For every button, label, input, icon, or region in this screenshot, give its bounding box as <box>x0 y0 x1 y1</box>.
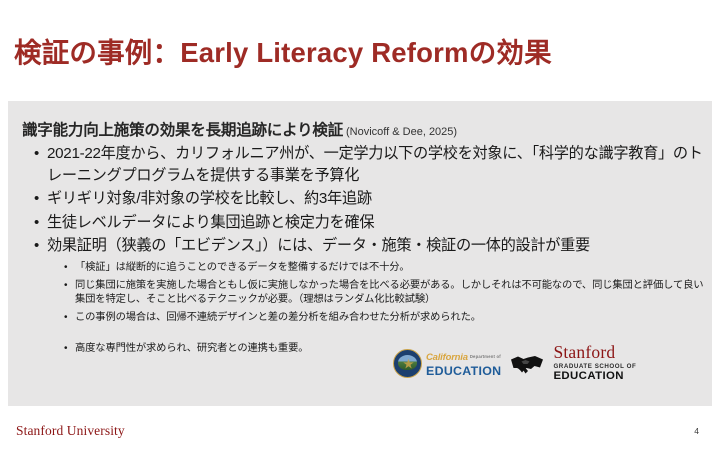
footer-brand: Stanford University <box>16 423 125 439</box>
cde-education-text: EDUCATION <box>426 365 501 377</box>
content-heading-main: 識字能力向上施策の効果を長期追跡により検証 <box>22 122 343 139</box>
bullet-glyph: • <box>34 212 47 234</box>
california-department-of-education-logo: CaliforniaDepartment of EDUCATION <box>393 348 501 377</box>
content-panel: 識字能力向上施策の効果を長期追跡により検証(Novicoff & Dee, 20… <box>8 101 712 406</box>
logo-row: CaliforniaDepartment of EDUCATION Stanfo… <box>393 342 636 384</box>
bullet-glyph: • <box>64 342 75 357</box>
gse-graduate-school-text: GRADUATE SCHOOL OF <box>553 364 636 370</box>
slide-title: 検証の事例：Early Literacy Reformの効果 <box>14 36 714 69</box>
cde-wordmark: CaliforniaDepartment of EDUCATION <box>426 348 501 377</box>
bullet-glyph: • <box>34 235 47 257</box>
bullet-glyph: • <box>34 188 47 210</box>
cde-department-text: Department of <box>468 355 501 359</box>
list-item-label: 2021-22年度から、カリフォルニア州が、一定学力以下の学校を対象に、「科学的… <box>47 143 710 186</box>
bullet-glyph: • <box>64 311 75 326</box>
page-number: 4 <box>694 426 699 436</box>
gse-education-text: EDUCATION <box>553 371 636 382</box>
primary-bullet-list: • 2021-22年度から、カリフォルニア州が、一定学力以下の学校を対象に、「科… <box>34 143 710 259</box>
handshake-icon <box>510 351 544 375</box>
sub-list-item-label: この事例の場合は、回帰不連続デザインと差の差分析を組み合わせた分析が求められた。 <box>75 311 712 326</box>
list-item-label: ギリギリ対象/非対象の学校を比較し、約3年追跡 <box>47 188 710 210</box>
california-state-seal-icon <box>393 349 422 378</box>
list-item-label: 生徒レベルデータにより集団追跡と検定力を確保 <box>47 212 710 234</box>
bullet-glyph: • <box>34 143 47 165</box>
stanford-gse-logo: Stanford GRADUATE SCHOOL OF EDUCATION <box>553 344 636 383</box>
list-item: • 2021-22年度から、カリフォルニア州が、一定学力以下の学校を対象に、「科… <box>34 143 710 186</box>
list-item: • 生徒レベルデータにより集団追跡と検定力を確保 <box>34 212 710 234</box>
list-item: • 効果証明（狭義の「エビデンス」）には、データ・施策・検証の一体的設計が重要 <box>34 235 710 257</box>
sub-list-item: • この事例の場合は、回帰不連続デザインと差の差分析を組み合わせた分析が求められ… <box>64 311 712 326</box>
bullet-glyph: • <box>64 261 75 276</box>
sub-list-item-label: 「検証」は縦断的に追うことのできるデータを整備するだけでは不十分。 <box>75 261 712 276</box>
content-heading-citation: (Novicoff & Dee, 2025) <box>343 126 457 138</box>
bullet-glyph: • <box>64 279 75 294</box>
stanford-wordmark: Stanford <box>553 344 636 362</box>
list-item-label: 効果証明（狭義の「エビデンス」）には、データ・施策・検証の一体的設計が重要 <box>47 235 710 257</box>
cde-california-text: California <box>426 353 468 363</box>
sub-list-item-label: 同じ集団に施策を実施した場合ともし仮に実施しなかった場合を比べる必要がある。しか… <box>75 279 712 308</box>
content-heading: 識字能力向上施策の効果を長期追跡により検証(Novicoff & Dee, 20… <box>22 118 457 140</box>
list-item: • ギリギリ対象/非対象の学校を比較し、約3年追跡 <box>34 188 710 210</box>
sub-list-item: • 「検証」は縦断的に追うことのできるデータを整備するだけでは不十分。 <box>64 261 712 276</box>
sub-list-item: • 同じ集団に施策を実施した場合ともし仮に実施しなかった場合を比べる必要がある。… <box>64 279 712 308</box>
